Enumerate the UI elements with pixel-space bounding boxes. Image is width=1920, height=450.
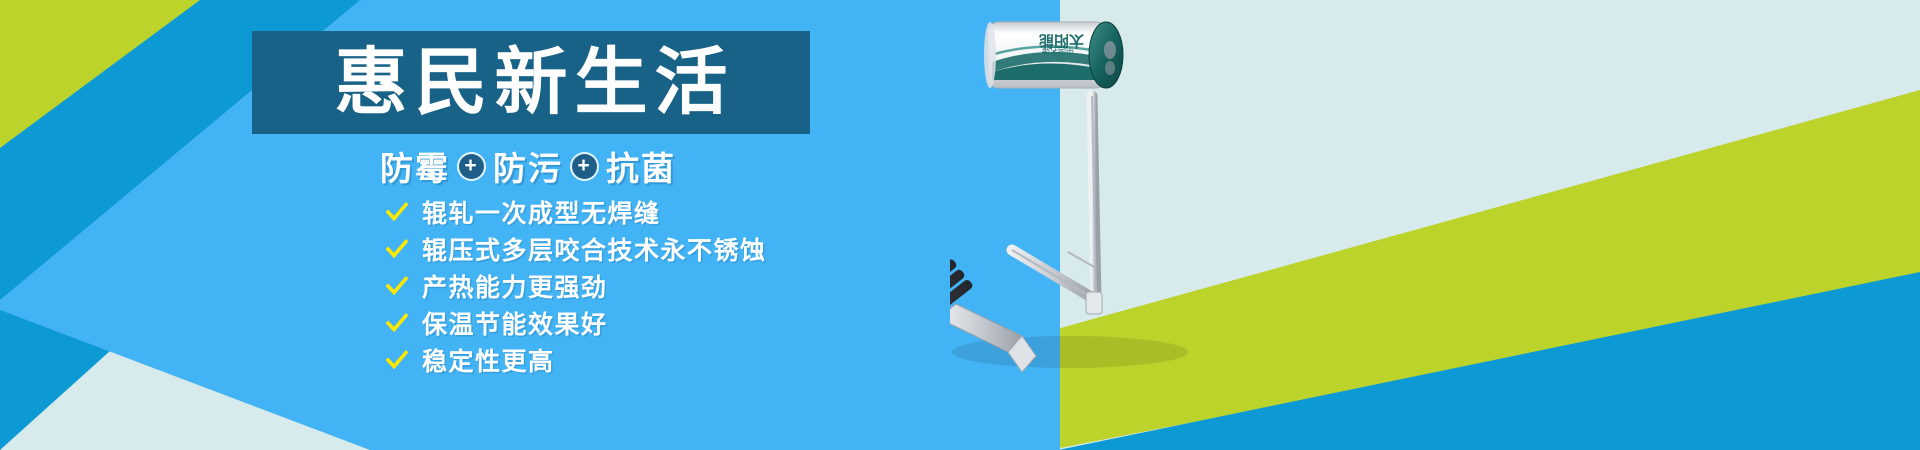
support-frame bbox=[1012, 96, 1096, 300]
list-item: 稳定性更高 bbox=[386, 343, 767, 376]
frame-foot bbox=[1086, 292, 1102, 314]
check-icon bbox=[386, 312, 408, 334]
feature-label: 产热能力更强劲 bbox=[422, 268, 608, 304]
evacuated-tube-array bbox=[950, 125, 974, 413]
list-item: 保温节能效果好 bbox=[386, 306, 767, 339]
feature-label: 保温节能效果好 bbox=[422, 305, 608, 341]
subtitle-row: 防霉 + 防污 + 抗菌 bbox=[380, 142, 810, 190]
page-title: 惠民新生活 bbox=[328, 46, 735, 119]
feature-label: 稳定性更高 bbox=[422, 342, 555, 378]
subtitle-word-2: 防污 bbox=[493, 142, 563, 190]
subtitle-word-3: 抗菌 bbox=[606, 142, 676, 190]
product-image-solar-water-heater: 太阳能 中国名牌 bbox=[950, 0, 1320, 450]
tank-sub-text: 中国名牌 bbox=[1042, 46, 1074, 56]
check-icon bbox=[386, 238, 408, 260]
subtitle-word-1: 防霉 bbox=[380, 142, 450, 190]
list-item: 辊压式多层咬合技术永不锈蚀 bbox=[386, 232, 767, 265]
check-icon bbox=[386, 349, 408, 371]
storage-tank: 太阳能 中国名牌 bbox=[984, 22, 1123, 88]
plus-icon: + bbox=[459, 154, 484, 179]
feature-label: 辊轧一次成型无焊缝 bbox=[422, 194, 661, 230]
list-item: 产热能力更强劲 bbox=[386, 269, 767, 302]
promo-banner: 惠民新生活 防霉 + 防污 + 抗菌 辊轧一次成型无焊缝 辊压式多层咬合技术永不… bbox=[0, 0, 1920, 450]
check-icon bbox=[386, 201, 408, 223]
check-icon bbox=[386, 275, 408, 297]
feature-label: 辊压式多层咬合技术永不锈蚀 bbox=[422, 231, 767, 267]
feature-list: 辊轧一次成型无焊缝 辊压式多层咬合技术永不锈蚀 产热能力更强劲 保温节能效果好 bbox=[386, 195, 767, 376]
plus-icon: + bbox=[572, 154, 597, 179]
list-item: 辊轧一次成型无焊缝 bbox=[386, 195, 767, 228]
headline-box: 惠民新生活 bbox=[252, 31, 810, 134]
